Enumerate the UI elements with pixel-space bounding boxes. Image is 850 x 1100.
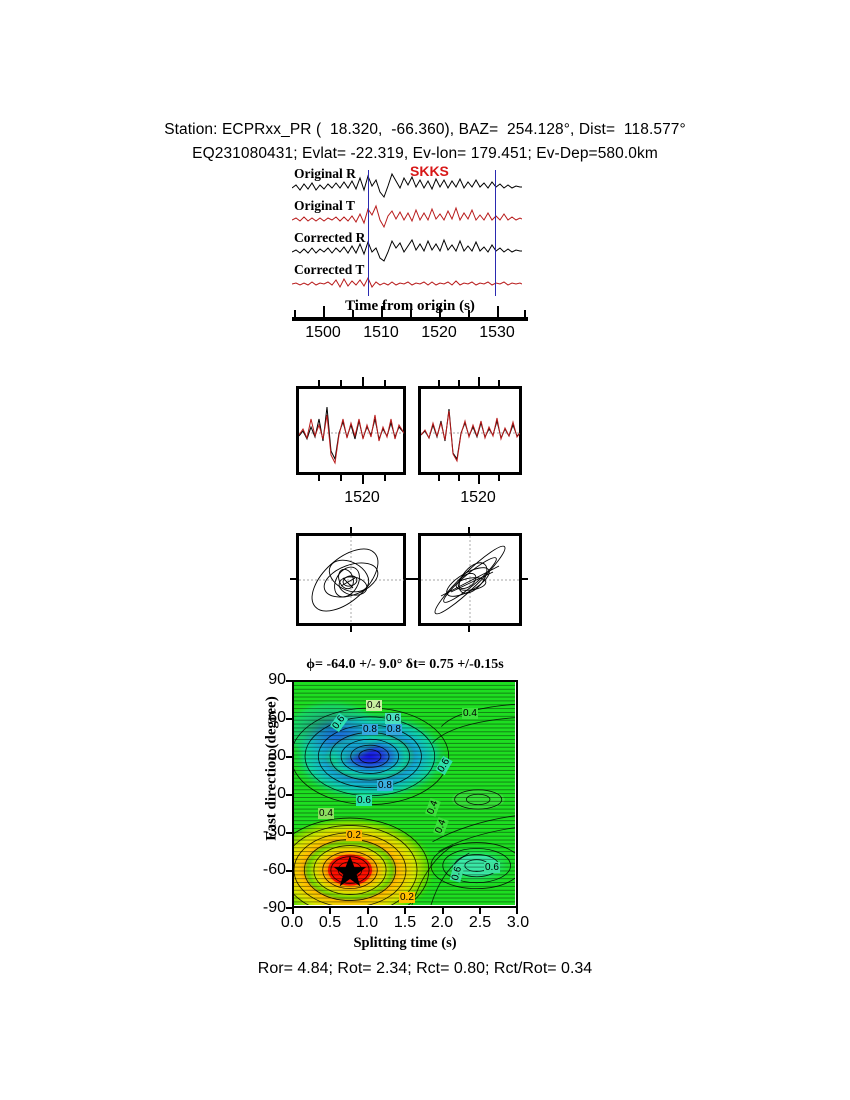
contour-label: 0.8: [362, 724, 378, 735]
trace-label-corrected-t: Corrected T: [294, 262, 364, 278]
contour-label: 0.2: [346, 830, 362, 841]
compare-left-tick: [340, 474, 342, 481]
contour-label: 0.6: [484, 862, 500, 873]
time-axis-tick-major: [323, 306, 325, 318]
energy-axis-tick-x: [292, 908, 294, 914]
trace-corrected-t: Corrected T: [292, 264, 522, 296]
trace-label-original-r: Original R: [294, 166, 356, 182]
trace-original-r: Original R: [292, 168, 522, 200]
hodogram-right-tick: [468, 625, 470, 632]
energy-x-tick-label: 2.0: [422, 914, 462, 932]
splitting-energy-map: ϕ= -64.0 +/- 9.0° δt= 0.75 +/-0.15s Fast…: [292, 680, 518, 908]
energy-x-tick-label: 1.5: [385, 914, 425, 932]
time-axis-tick: [352, 310, 354, 318]
energy-y-tick-label: -60: [242, 861, 286, 879]
particle-motion-corrected: [418, 533, 522, 626]
contour-label: 0.8: [377, 780, 393, 791]
energy-y-tick-label: 60: [242, 709, 286, 727]
trace-corrected-r: Corrected R: [292, 232, 522, 264]
contour-label: 0.6: [356, 795, 372, 806]
energy-y-tick-label: -30: [242, 823, 286, 841]
figure-page: Station: ECPRxx_PR ( 18.320, -66.360), B…: [0, 0, 850, 1100]
time-axis-tick: [294, 310, 296, 318]
compare-left-tick: [384, 474, 386, 481]
compare-right-tick: [458, 474, 460, 481]
time-axis-tick-labels: 1500 1510 1520 1530: [274, 324, 546, 346]
compare-left-tick-major: [362, 474, 364, 484]
compare-right-tick-major: [478, 377, 480, 387]
compare-left-tick: [318, 474, 320, 481]
fast-slow-compare-left: [296, 386, 406, 475]
compare-left-tick-label: 1520: [322, 489, 402, 507]
energy-axis-tick-x: [516, 908, 518, 914]
trace-label-original-t: Original T: [294, 198, 355, 214]
contour-label: 0.4: [462, 708, 478, 719]
contour-label: 0.6: [385, 713, 401, 724]
time-tick-label: 1510: [358, 324, 404, 342]
hodogram-right-tick: [412, 578, 419, 580]
time-axis-tick-major: [497, 306, 499, 318]
energy-axis-tick-x: [479, 908, 481, 914]
energy-axis-tick-x: [442, 908, 444, 914]
contour-label: 0.8: [386, 724, 402, 735]
hodogram-right-tick: [468, 527, 470, 534]
window-end-marker: [495, 170, 496, 296]
contour-label: 0.2: [399, 892, 415, 903]
compare-left-tick: [340, 380, 342, 387]
energy-axis-tick-x: [404, 908, 406, 914]
particle-motion-uncorrected: [296, 533, 406, 626]
energy-map-canvas: 0.4 0.4 0.6 0.6 0.8 0.8 0.6 0.8 0.6 0.4 …: [292, 680, 518, 908]
energy-y-tick-label: 30: [242, 747, 286, 765]
energy-y-tick-label: 90: [242, 671, 286, 689]
header-station-line: Station: ECPRxx_PR ( 18.320, -66.360), B…: [0, 118, 850, 142]
energy-x-tick-label: 1.0: [347, 914, 387, 932]
quality-metrics-footer: Ror= 4.84; Rot= 2.34; Rct= 0.80; Rct/Rot…: [0, 960, 850, 978]
compare-right-tick: [438, 474, 440, 481]
fast-slow-compare-right: [418, 386, 522, 475]
figure-header: Station: ECPRxx_PR ( 18.320, -66.360), B…: [0, 118, 850, 166]
time-axis: Time from origin (s) 1500 1510 1520 1530: [292, 300, 528, 356]
compare-right-tick-major: [478, 474, 480, 484]
energy-x-tick-label: 2.5: [460, 914, 500, 932]
compare-right-tick: [458, 380, 460, 387]
energy-x-tick-label: 0.5: [310, 914, 350, 932]
trace-label-corrected-r: Corrected R: [294, 230, 365, 246]
energy-axis-tick-x: [329, 908, 331, 914]
time-axis-tick: [410, 310, 412, 318]
compare-left-tick: [318, 380, 320, 387]
trace-original-t: Original T: [292, 200, 522, 232]
energy-x-tick-label: 0.0: [272, 914, 312, 932]
energy-axis-tick-x: [367, 908, 369, 914]
compare-right-tick-label: 1520: [438, 489, 518, 507]
compare-left-tick-major: [362, 377, 364, 387]
time-axis-tick-major: [439, 306, 441, 318]
energy-x-tick-label: 3.0: [498, 914, 538, 932]
time-tick-label: 1500: [300, 324, 346, 342]
hodogram-left-tick: [350, 625, 352, 632]
time-tick-label: 1520: [416, 324, 462, 342]
compare-right-tick: [438, 380, 440, 387]
time-axis-tick: [524, 310, 526, 318]
contour-label: 0.4: [366, 700, 382, 711]
hodogram-left-tick: [290, 578, 297, 580]
skks-phase-label: SKKS: [410, 163, 449, 179]
time-axis-tick: [468, 310, 470, 318]
energy-y-tick-label: 0: [242, 785, 286, 803]
compare-left-tick: [384, 380, 386, 387]
compare-right-tick: [498, 474, 500, 481]
hodogram-left-tick: [405, 578, 412, 580]
contour-label: 0.4: [318, 808, 334, 819]
compare-right-tick: [498, 380, 500, 387]
time-tick-label: 1530: [474, 324, 520, 342]
waveform-stack: SKKS Original R Original T Corrected R: [292, 168, 522, 296]
window-start-marker: [368, 170, 369, 296]
time-axis-tick-major: [381, 306, 383, 318]
hodogram-right-tick: [521, 578, 528, 580]
energy-map-xlabel: Splitting time (s): [252, 935, 558, 952]
hodogram-left-tick: [350, 527, 352, 534]
